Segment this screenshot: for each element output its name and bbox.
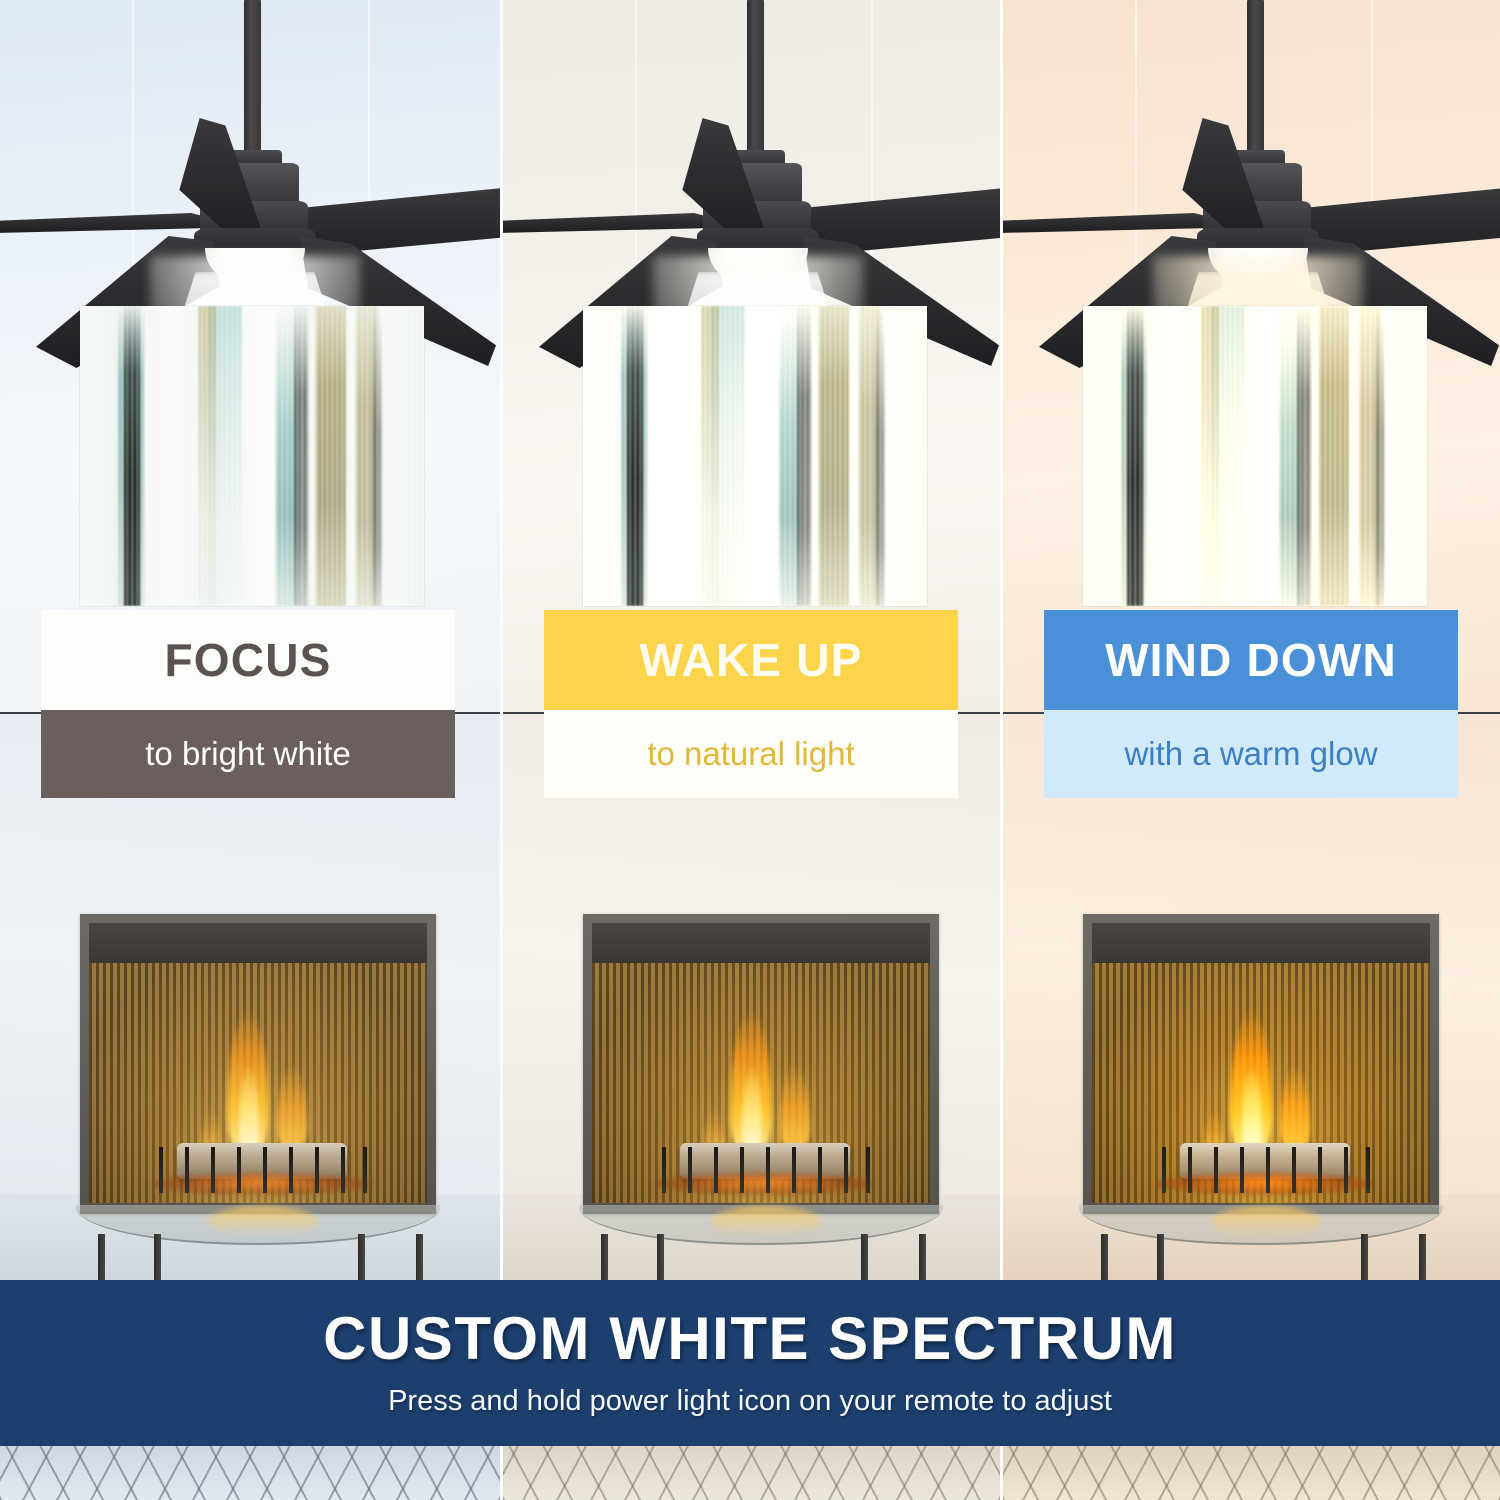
- artwork-texture: [80, 306, 424, 606]
- fire-grate: [159, 1147, 367, 1193]
- mode-card-subtitle: to bright white: [41, 710, 455, 798]
- table-leg: [601, 1234, 608, 1280]
- comparison-panels: FOCUS to bright white: [0, 0, 1500, 1280]
- mode-card-subtitle: with a warm glow: [1044, 710, 1458, 798]
- diamond-pattern-icon: [503, 1446, 1000, 1500]
- table-leg: [919, 1234, 926, 1280]
- console-table: [1061, 900, 1461, 1280]
- mode-card-wind-down[interactable]: WIND DOWN with a warm glow: [1044, 610, 1458, 798]
- table-leg: [1361, 1234, 1368, 1280]
- table-leg: [1157, 1234, 1164, 1280]
- artwork-texture: [583, 306, 927, 606]
- fireplace-lintel: [592, 923, 930, 963]
- ceiling-fan: [503, 0, 1000, 320]
- product-feature-graphic: FOCUS to bright white: [0, 0, 1500, 1500]
- fan-downrod: [1247, 0, 1264, 172]
- mode-card-wake-up[interactable]: WAKE UP to natural light: [544, 610, 958, 798]
- table-leg: [98, 1234, 105, 1280]
- table-leg: [1419, 1234, 1426, 1280]
- panel-wake-up: WAKE UP to natural light: [500, 0, 1000, 1280]
- mode-card-title: WAKE UP: [544, 610, 958, 710]
- rug-cell: [500, 1446, 1000, 1500]
- console-table: [561, 900, 961, 1280]
- fireplace-firebox: [592, 963, 930, 1203]
- table-leg: [657, 1234, 664, 1280]
- glass-reflection: [208, 1206, 318, 1238]
- fan-blade: [500, 213, 723, 233]
- mode-card-focus[interactable]: FOCUS to bright white: [41, 610, 455, 798]
- mode-card-subtitle: to natural light: [544, 710, 958, 798]
- table-leg: [358, 1234, 365, 1280]
- table-leg: [416, 1234, 423, 1280]
- rug-strip: [0, 1446, 1500, 1500]
- table-leg: [861, 1234, 868, 1280]
- rug-cell: [0, 1446, 500, 1500]
- table-leg: [154, 1234, 161, 1280]
- glass-reflection: [1211, 1206, 1321, 1238]
- ceiling-fan: [0, 0, 500, 320]
- rug-cell: [1000, 1446, 1500, 1500]
- console-table: [58, 900, 458, 1280]
- panel-wind-down: WIND DOWN with a warm glow: [1000, 0, 1500, 1280]
- banner-subline: Press and hold power light icon on your …: [388, 1385, 1112, 1418]
- mode-card-title: WIND DOWN: [1044, 610, 1458, 710]
- glass-reflection: [711, 1206, 821, 1238]
- table-leg: [1101, 1234, 1108, 1280]
- wall-artwork: [1083, 306, 1427, 606]
- mode-card-title: FOCUS: [41, 610, 455, 710]
- fire-grate: [662, 1147, 870, 1193]
- diamond-pattern-icon: [0, 1446, 500, 1500]
- banner-headline: CUSTOM WHITE SPECTRUM: [323, 1309, 1177, 1369]
- fireplace-firebox: [1092, 963, 1430, 1203]
- fan-downrod: [244, 0, 261, 172]
- fireplace-lintel: [89, 923, 427, 963]
- fan-blade: [0, 213, 220, 233]
- panel-focus: FOCUS to bright white: [0, 0, 500, 1280]
- wall-artwork: [80, 306, 424, 606]
- wall-artwork: [583, 306, 927, 606]
- artwork-texture: [1083, 306, 1427, 606]
- diamond-pattern-icon: [1003, 1446, 1500, 1500]
- fireplace-firebox: [89, 963, 427, 1203]
- fire-grate: [1162, 1147, 1370, 1193]
- fan-downrod: [747, 0, 764, 172]
- fireplace-lintel: [1092, 923, 1430, 963]
- fan-blade: [1000, 213, 1223, 233]
- feature-banner: CUSTOM WHITE SPECTRUM Press and hold pow…: [0, 1280, 1500, 1446]
- ceiling-fan: [1003, 0, 1500, 320]
